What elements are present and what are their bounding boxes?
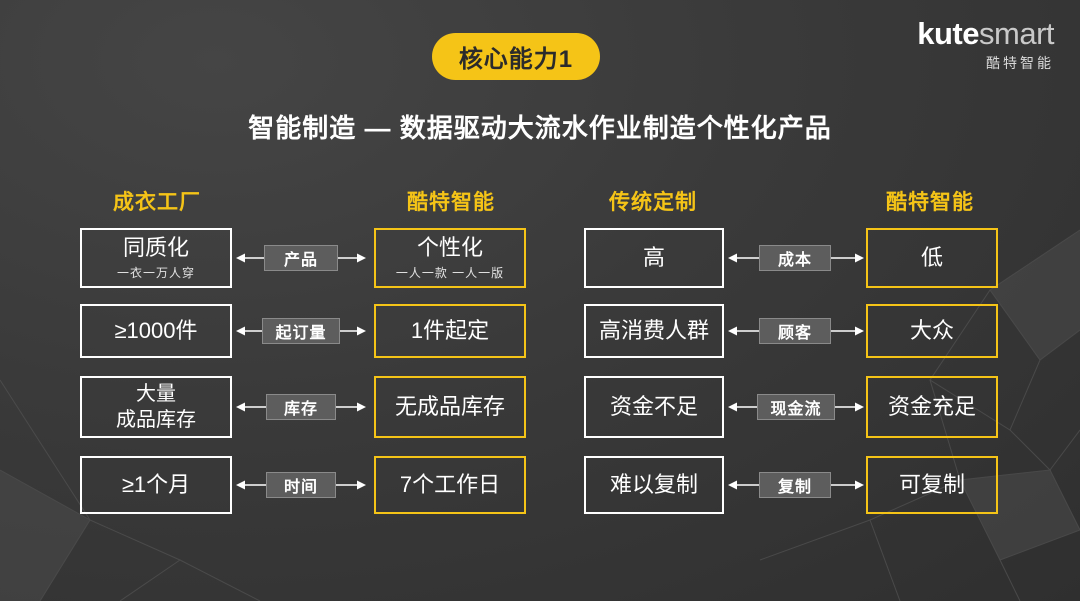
column-heading-1: 成衣工厂: [82, 186, 232, 216]
right-row-2-label-chip: 顾客: [759, 318, 831, 344]
logo-wordmark-kute: kute: [917, 16, 979, 51]
right-row-3-target-box: 资金充足: [866, 376, 998, 438]
right-row-2-source-box: 高消费人群: [584, 304, 724, 358]
right-row-1-target-box: 低: [866, 228, 998, 288]
page-title-pill: 核心能力1: [432, 33, 600, 80]
column-heading-3: 传统定制: [578, 186, 728, 216]
left-row-4-target-box: 7个工作日: [374, 456, 526, 514]
left-row-3-label-chip: 库存: [266, 394, 336, 420]
column-heading-4: 酷特智能: [855, 186, 1005, 216]
right-row-4-source-main: 难以复制: [610, 472, 698, 497]
left-row-2-source-box: ≥1000件: [80, 304, 232, 358]
right-row-4-source-box: 难以复制: [584, 456, 724, 514]
brand-logo: kutesmart 酷特智能: [917, 18, 1054, 70]
right-row-1-source-main: 高: [643, 245, 665, 270]
logo-wordmark: kutesmart: [917, 18, 1054, 49]
left-row-4-source-main: ≥1个月: [122, 472, 190, 497]
left-row-3-target-box: 无成品库存: [374, 376, 526, 438]
logo-subtext: 酷特智能: [917, 56, 1054, 70]
right-row-4-target-box: 可复制: [866, 456, 998, 514]
left-row-1-target-main: 个性化: [417, 235, 483, 260]
left-row-1-label-chip: 产品: [264, 245, 338, 271]
logo-wordmark-smart: smart: [979, 16, 1054, 51]
right-row-1-target-main: 低: [921, 245, 943, 270]
right-row-3-label-chip: 现金流: [757, 394, 835, 420]
left-row-4-source-box: ≥1个月: [80, 456, 232, 514]
column-heading-2: 酷特智能: [376, 186, 526, 216]
right-row-1-label-chip: 成本: [759, 245, 831, 271]
left-row-1-source-main: 同质化: [123, 235, 189, 260]
left-row-4-label-chip: 时间: [266, 472, 336, 498]
left-row-2-label-chip: 起订量: [262, 318, 340, 344]
right-row-3-target-main: 资金充足: [888, 394, 976, 419]
right-row-3-source-box: 资金不足: [584, 376, 724, 438]
left-row-3-source-main: 大量 成品库存: [116, 381, 196, 433]
left-row-1-source-box: 同质化 一衣一万人穿: [80, 228, 232, 288]
left-row-1-target-box: 个性化 一人一款 一人一版: [374, 228, 526, 288]
left-row-3-target-main: 无成品库存: [395, 394, 505, 419]
right-row-2-target-box: 大众: [866, 304, 998, 358]
right-row-2-source-main: 高消费人群: [599, 318, 709, 343]
right-row-4-target-main: 可复制: [899, 472, 965, 497]
right-row-2-target-main: 大众: [910, 318, 954, 343]
left-row-4-target-main: 7个工作日: [400, 472, 500, 497]
right-row-1-source-box: 高: [584, 228, 724, 288]
left-row-2-target-box: 1件起定: [374, 304, 526, 358]
left-row-3-source-box: 大量 成品库存: [80, 376, 232, 438]
left-row-1-target-sub: 一人一款 一人一版: [396, 264, 504, 281]
left-row-1-source-sub: 一衣一万人穿: [117, 264, 195, 281]
right-row-4-label-chip: 复制: [759, 472, 831, 498]
left-row-2-target-main: 1件起定: [411, 318, 489, 343]
right-row-3-source-main: 资金不足: [610, 394, 698, 419]
left-row-2-source-main: ≥1000件: [114, 318, 197, 343]
page-subtitle: 智能制造 — 数据驱动大流水作业制造个性化产品: [0, 108, 1080, 145]
